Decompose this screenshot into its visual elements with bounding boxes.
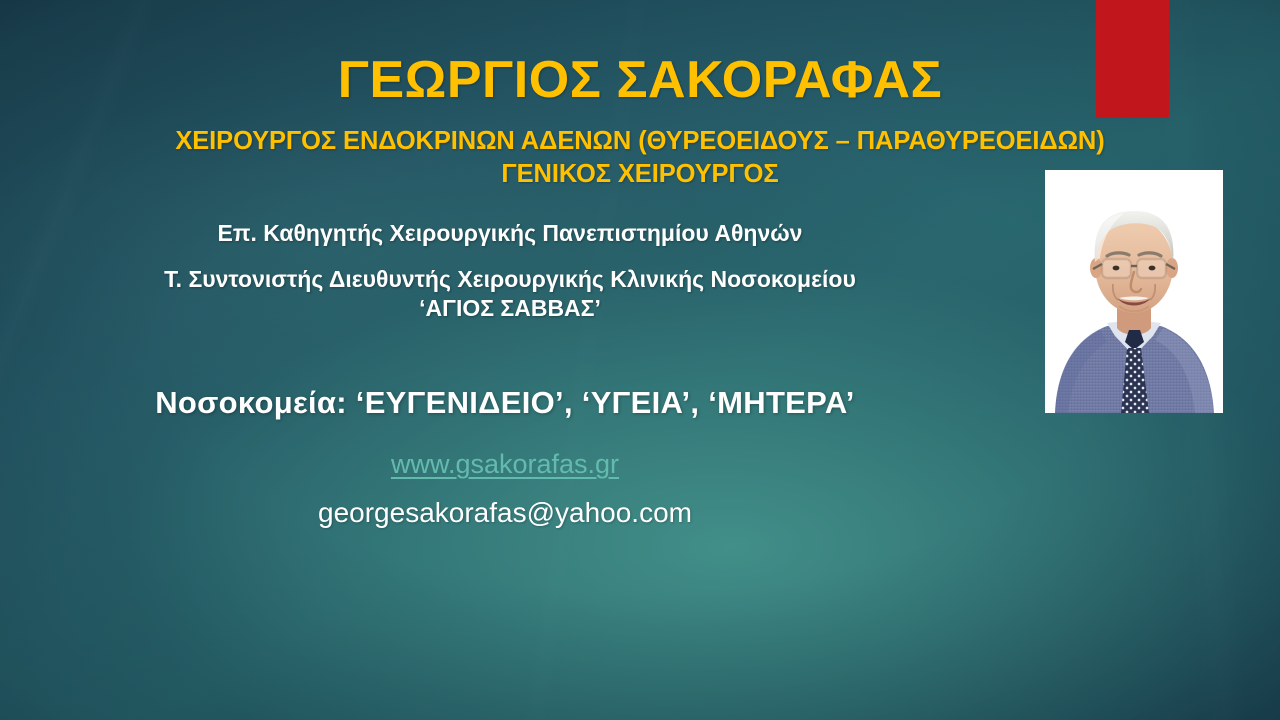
page-title: ΓΕΩΡΓΙΟΣ ΣΑΚΟΡΑΦΑΣ	[0, 52, 1280, 109]
website-link[interactable]: www.gsakorafas.gr	[391, 449, 619, 479]
email-address: georgesakorafas@yahoo.com	[0, 497, 1010, 529]
role-director: Τ. Συντονιστής Διευθυντής Χειρουργικής Κ…	[0, 265, 1020, 324]
role-director-hospital: ‘ΑΓΙΟΣ ΣΑΒΒΑΣ’	[0, 294, 1020, 323]
title-slide: ΓΕΩΡΓΙΟΣ ΣΑΚΟΡΑΦΑΣ ΧΕΙΡΟΥΡΓΟΣ ΕΝΔΟΚΡΙΝΩΝ…	[0, 0, 1280, 720]
hospitals-list: Νοσοκομεία: ‘ΕΥΓΕΝΙΔΕΙΟ’, ‘ΥΓΕΙΑ’, ‘ΜΗΤΕ…	[0, 385, 1010, 421]
role-director-line-1: Τ. Συντονιστής Διευθυντής Χειρουργικής Κ…	[0, 265, 1020, 294]
specialty-line-1: ΧΕΙΡΟΥΡΓΟΣ ΕΝΔΟΚΡΙΝΩΝ ΑΔΕΝΩΝ (ΘΥΡΕΟΕΙΔΟΥ…	[0, 126, 1280, 157]
specialty-line-2: ΓΕΝΙΚΟΣ ΧΕΙΡΟΥΡΓΟΣ	[0, 159, 1280, 190]
role-professor: Επ. Καθηγητής Χειρουργικής Πανεπιστημίου…	[0, 219, 1020, 248]
website-row: www.gsakorafas.gr	[0, 449, 1010, 480]
portrait-photo	[1045, 170, 1223, 413]
